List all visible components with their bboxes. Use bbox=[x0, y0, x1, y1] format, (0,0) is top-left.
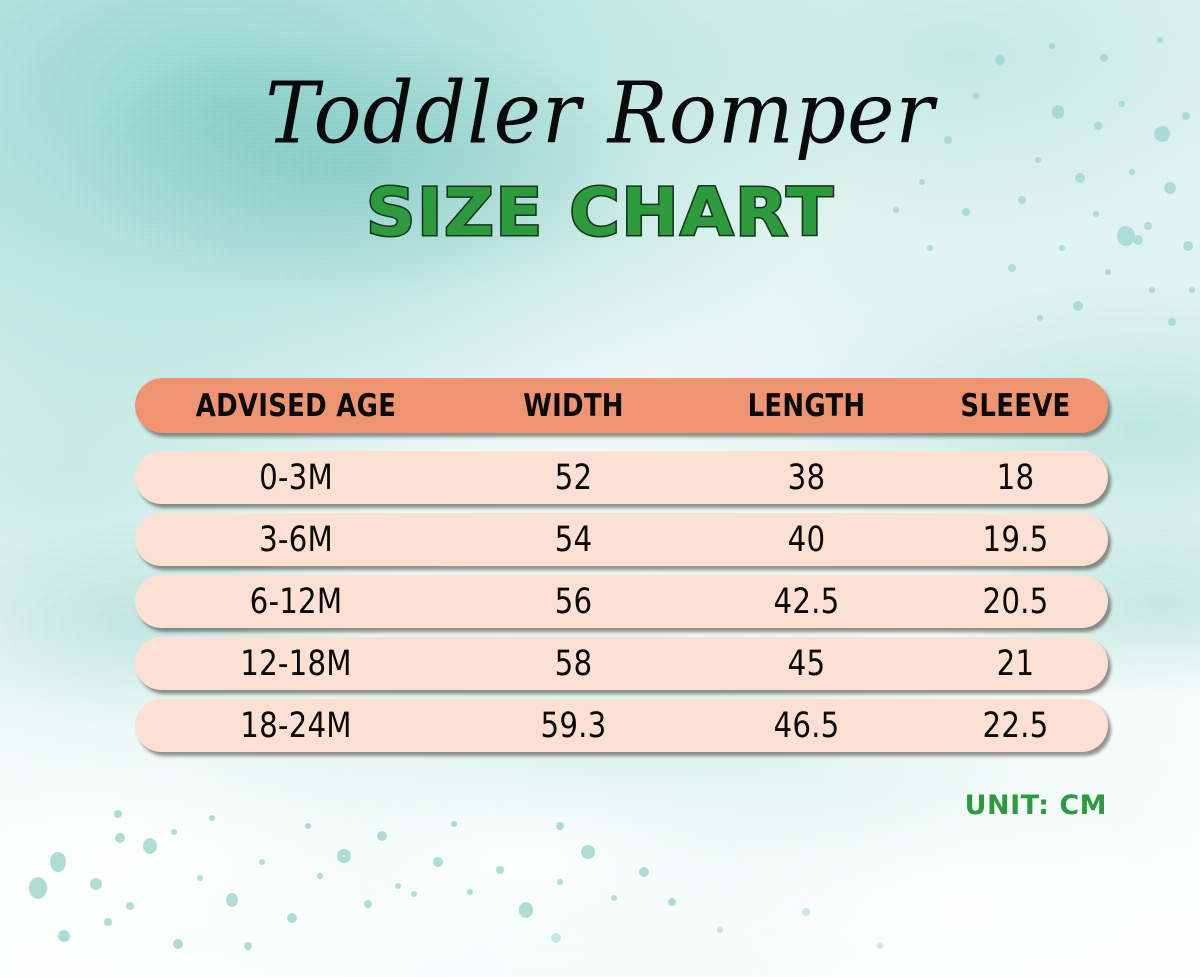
cell-advised-age: 0-3M bbox=[146, 458, 445, 498]
page-subtitle: SIZE CHART bbox=[366, 180, 835, 246]
subtitle-wrapper: SIZE CHART bbox=[0, 180, 1200, 246]
cell-width: 58 bbox=[465, 644, 682, 684]
cell-width: 56 bbox=[465, 582, 682, 622]
cell-length: 46.5 bbox=[698, 706, 915, 746]
cell-width: 54 bbox=[465, 520, 682, 560]
column-header-width: WIDTH bbox=[465, 388, 682, 424]
column-header-advised-age: ADVISED AGE bbox=[146, 388, 445, 424]
column-header-length: LENGTH bbox=[698, 388, 915, 424]
cell-length: 42.5 bbox=[698, 582, 915, 622]
cell-length: 40 bbox=[698, 520, 915, 560]
cell-advised-age: 12-18M bbox=[146, 644, 445, 684]
size-chart-canvas: Toddler Romper SIZE CHART ADVISED AGE WI… bbox=[0, 0, 1200, 977]
table-row: 3-6M 54 40 19.5 bbox=[135, 513, 1108, 566]
cell-advised-age: 6-12M bbox=[146, 582, 445, 622]
cell-sleeve: 19.5 bbox=[929, 520, 1101, 560]
column-header-sleeve: SLEEVE bbox=[929, 388, 1101, 424]
cell-sleeve: 22.5 bbox=[929, 706, 1101, 746]
cell-advised-age: 18-24M bbox=[146, 706, 445, 746]
cell-sleeve: 18 bbox=[929, 458, 1101, 498]
table-header-row: ADVISED AGE WIDTH LENGTH SLEEVE bbox=[135, 378, 1108, 433]
cell-width: 52 bbox=[465, 458, 682, 498]
size-chart-table: ADVISED AGE WIDTH LENGTH SLEEVE 0-3M 52 … bbox=[135, 378, 1108, 761]
table-row: 18-24M 59.3 46.5 22.5 bbox=[135, 699, 1108, 752]
table-row: 6-12M 56 42.5 20.5 bbox=[135, 575, 1108, 628]
cell-length: 45 bbox=[698, 644, 915, 684]
cell-sleeve: 21 bbox=[929, 644, 1101, 684]
table-row: 0-3M 52 38 18 bbox=[135, 451, 1108, 504]
title-block: Toddler Romper SIZE CHART bbox=[0, 72, 1200, 246]
cell-sleeve: 20.5 bbox=[929, 582, 1101, 622]
cell-width: 59.3 bbox=[465, 706, 682, 746]
cell-advised-age: 3-6M bbox=[146, 520, 445, 560]
table-row: 12-18M 58 45 21 bbox=[135, 637, 1108, 690]
unit-note: UNIT: CM bbox=[965, 790, 1107, 821]
page-title: Toddler Romper bbox=[0, 69, 1200, 158]
cell-length: 38 bbox=[698, 458, 915, 498]
